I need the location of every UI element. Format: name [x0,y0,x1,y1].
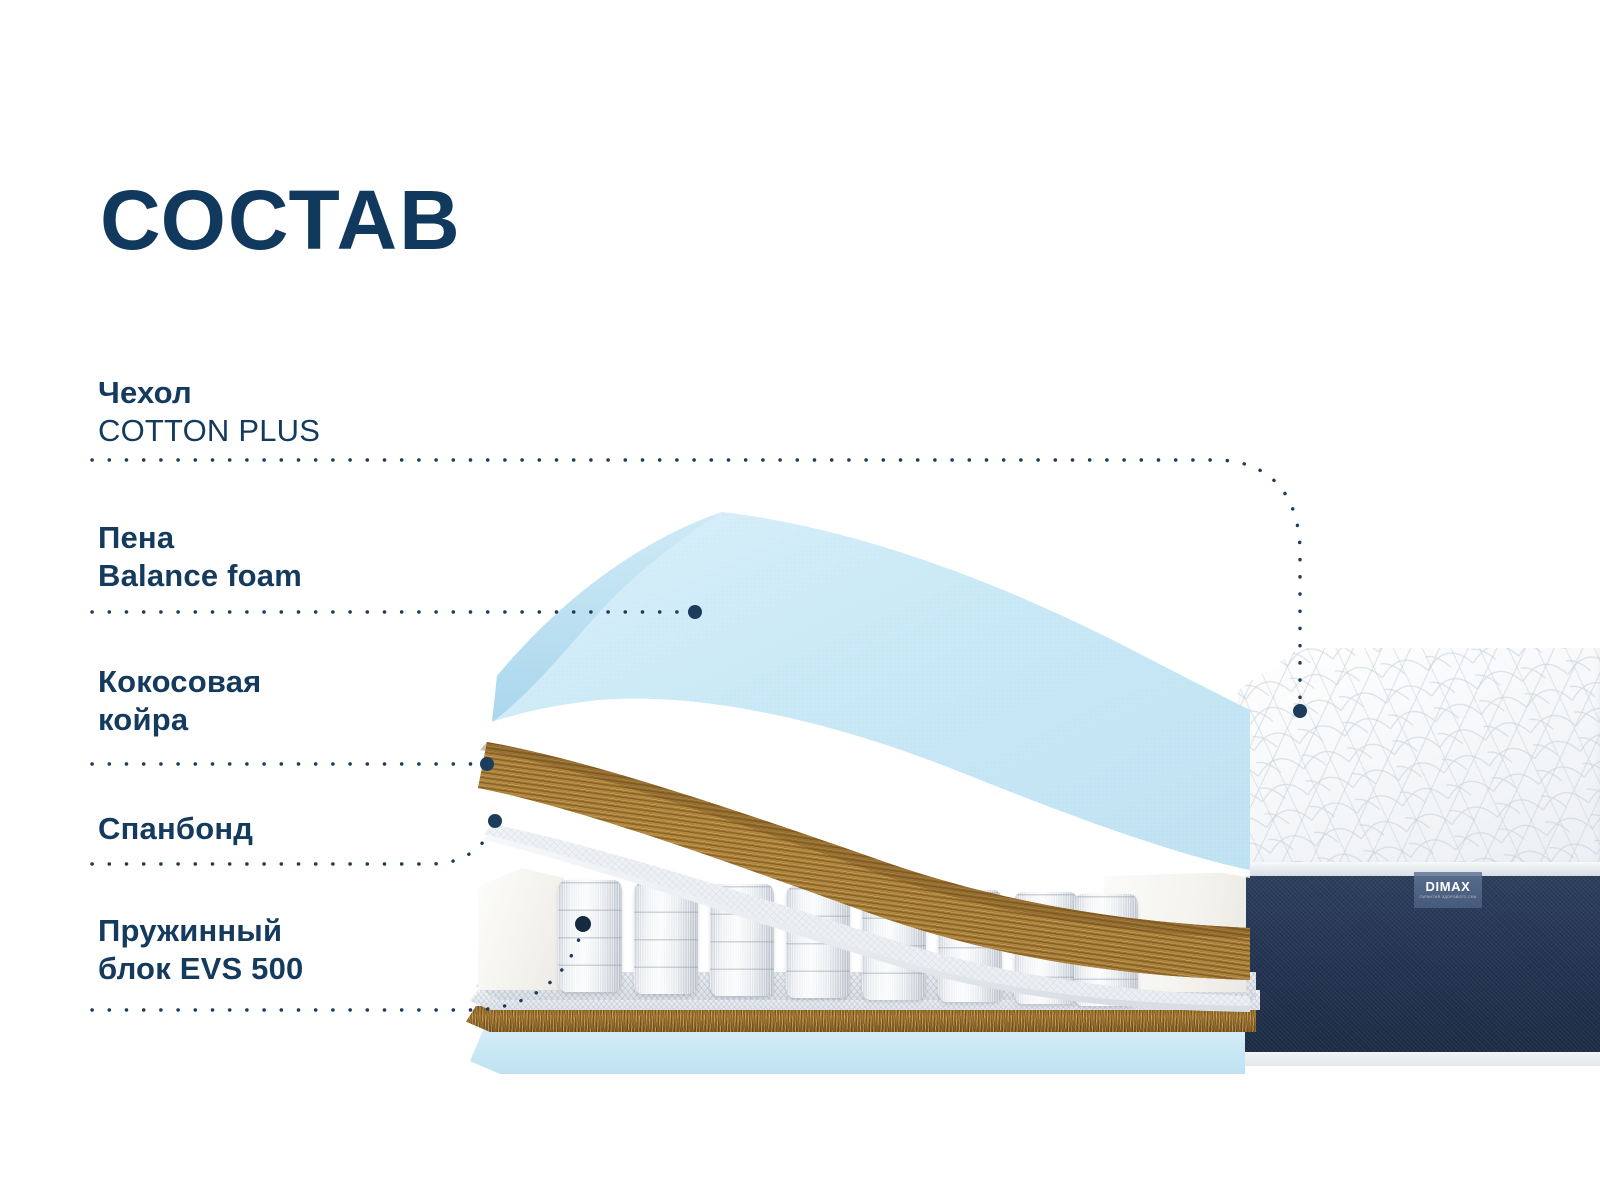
mattress-cutaway-illustration: DIMAX ГАРАНТИЯ ЗДОРОВОГО СНА [0,0,1600,1200]
label-coir-line1: Кокосовая [98,663,261,701]
label-spring-line2: блок EVS 500 [98,950,304,988]
label-spunbond-line1: Спанбонд [98,810,253,848]
infographic-canvas: СОСТАВ DIMAX ГАРАНТИЯ ЗДОРОВОГО СНА [0,0,1600,1200]
spunbond-layer [484,824,1250,1012]
label-foam-line2: Balance foam [98,557,302,595]
label-cover-line1: Чехол [98,374,320,412]
label-foam-line1: Пена [98,519,302,557]
label-spunbond: Спанбонд [98,810,253,848]
upper-layers-group [0,0,1600,1200]
label-spring-block: Пружинный блок EVS 500 [98,912,304,988]
label-spring-line1: Пружинный [98,912,304,950]
label-coir: Кокосовая койра [98,663,261,739]
label-foam: Пена Balance foam [98,519,302,595]
balance-foam-layer [492,512,1250,878]
label-coir-line2: койра [98,701,261,739]
label-cover-line2: COTTON PLUS [98,412,320,450]
label-cover: Чехол COTTON PLUS [98,374,320,450]
